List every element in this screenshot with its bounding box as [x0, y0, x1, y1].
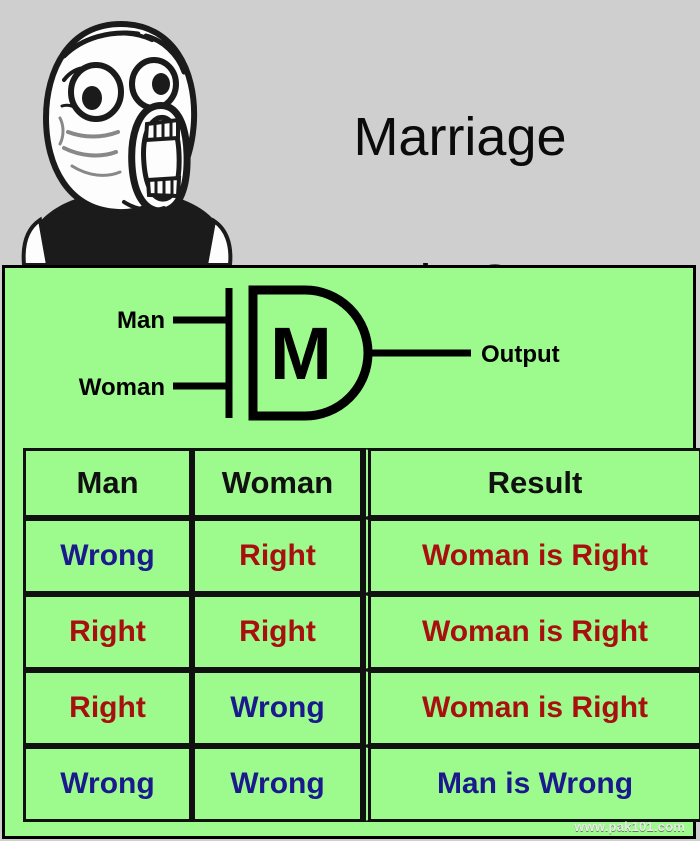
table-row: Wrong Right Woman is Right	[23, 518, 700, 594]
table-row: Wrong Wrong Man is Wrong	[23, 746, 700, 822]
meme-image: Marriage Logic Gate M Man Woman	[0, 0, 700, 841]
table-header-row: Man Woman Result	[23, 448, 700, 518]
column-header-man: Man	[23, 448, 192, 518]
header-band: Marriage Logic Gate	[0, 0, 700, 265]
man-input-label: Man	[117, 307, 165, 334]
woman-input-label: Woman	[79, 374, 165, 401]
green-content-panel: M Man Woman Output Man Woman Result Wron…	[2, 265, 696, 839]
cell-man-1: Wrong	[23, 518, 192, 594]
cell-woman-4: Wrong	[192, 746, 363, 822]
column-header-result: Result	[363, 448, 700, 518]
cell-woman-3: Wrong	[192, 670, 363, 746]
rage-face-icon	[6, 14, 236, 265]
title-line-1: Marriage	[230, 101, 690, 174]
cell-woman-2: Right	[192, 594, 363, 670]
cell-man-4: Wrong	[23, 746, 192, 822]
table-row: Right Wrong Woman is Right	[23, 670, 700, 746]
logic-gate-diagram: M Man Woman Output	[5, 276, 693, 446]
output-label: Output	[481, 341, 560, 368]
cell-woman-1: Right	[192, 518, 363, 594]
truth-table: Man Woman Result Wrong Right Woman is Ri…	[23, 448, 700, 822]
table-row: Right Right Woman is Right	[23, 594, 700, 670]
cell-man-3: Right	[23, 670, 192, 746]
cell-result-3: Woman is Right	[363, 670, 700, 746]
cell-result-1: Woman is Right	[363, 518, 700, 594]
column-header-woman: Woman	[192, 448, 363, 518]
gate-label: M	[270, 312, 332, 395]
watermark: www.pak101.com	[574, 819, 685, 834]
cell-result-2: Woman is Right	[363, 594, 700, 670]
cell-man-2: Right	[23, 594, 192, 670]
cell-result-4: Man is Wrong	[363, 746, 700, 822]
